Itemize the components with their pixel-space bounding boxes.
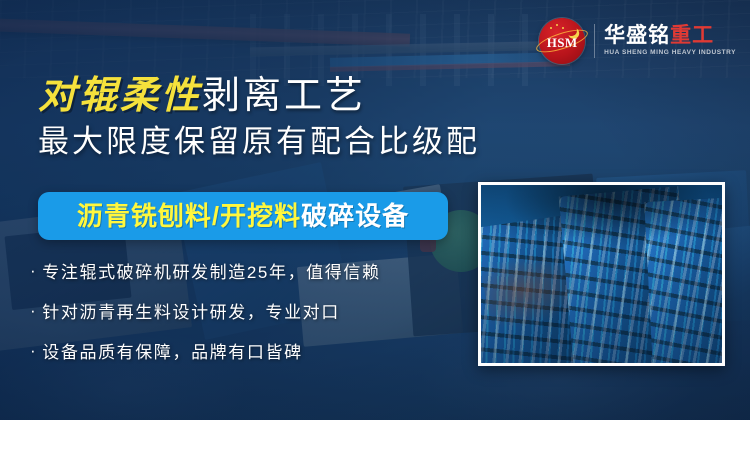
headline-line-2: 最大限度保留原有配合比级配 [38,126,480,157]
product-category-text: 沥青铣刨料/开挖料破碎设备 [77,203,409,229]
bullet-marker-icon: · [30,342,37,359]
headline-line-1-rest: 剥离工艺 [202,75,366,117]
headline-line-1: 对辊柔性剥离工艺 [38,76,480,115]
company-name-en: HUA SHENG MING HEAVY INDUSTRY [604,50,736,57]
headline-block: 对辊柔性剥离工艺 最大限度保留原有配合比级配 [38,76,480,157]
product-photo-panel[interactable] [478,182,725,366]
product-photo-shading [481,185,722,363]
logo-wordmark: 华盛铭重工 HUA SHENG MING HEAVY INDUSTRY [604,25,736,57]
bullet-marker-icon: · [30,302,37,319]
star-icon-3 [562,27,564,29]
hsm-logo-mark-icon: HSM [539,18,585,64]
product-photo-image [481,185,722,363]
promo-banner: HSM 华盛铭重工 HUA SHENG MING HEAVY INDUSTRY … [0,0,750,451]
list-item-label: 针对沥青再生料设计研发，专业对口 [42,298,340,323]
company-name-cn-primary: 华盛铭 [604,24,670,47]
company-logo[interactable]: HSM 华盛铭重工 HUA SHENG MING HEAVY INDUSTRY [539,18,736,64]
list-item: · 专注辊式破碎机研发制造25年，值得信赖 [30,258,381,283]
bullet-marker-icon: · [30,262,37,279]
product-category-suffix: 破碎设备 [301,201,409,231]
logo-initials: HSM [547,35,578,51]
list-item-label: 设备品质有保障，品牌有口皆碑 [42,338,302,363]
product-category-highlight: 沥青铣刨料/开挖料 [77,201,301,231]
list-item: · 设备品质有保障，品牌有口皆碑 [30,338,381,363]
headline-highlight: 对辊柔性 [38,73,202,117]
list-item: · 针对沥青再生料设计研发，专业对口 [30,298,381,323]
star-icon-2 [556,24,558,26]
product-category-banner: 沥青铣刨料/开挖料破碎设备 [38,192,448,240]
logo-divider [594,24,595,58]
list-item-label: 专注辊式破碎机研发制造25年，值得信赖 [42,258,380,283]
selling-points-list: · 专注辊式破碎机研发制造25年，值得信赖 · 针对沥青再生料设计研发，专业对口… [30,258,381,378]
company-name-cn: 华盛铭重工 [604,25,736,46]
star-icon-1 [550,27,552,29]
company-name-cn-accent: 重工 [670,24,714,47]
